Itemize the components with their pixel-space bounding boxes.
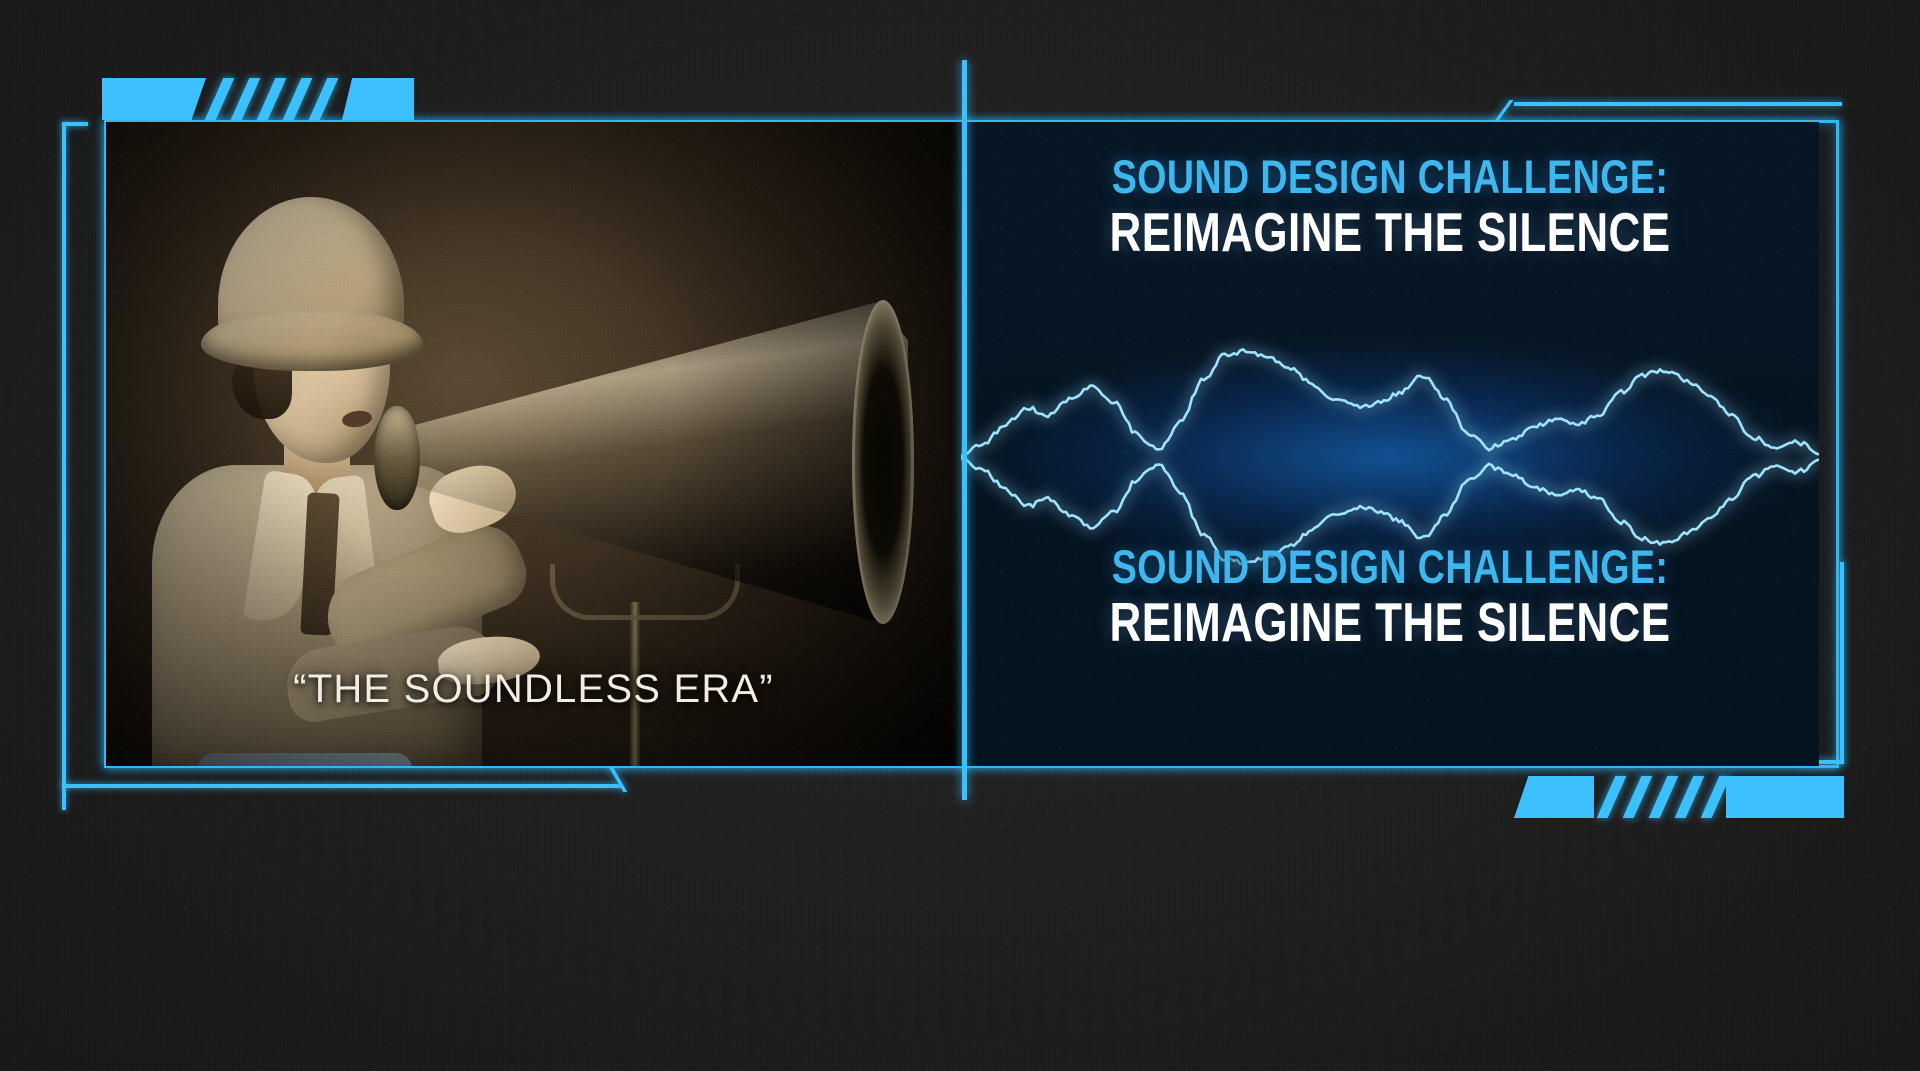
center-divider-line (962, 60, 967, 800)
vintage-photo-panel: “THE SOUNDLESS ERA” (106, 122, 961, 766)
title-top-line2: REIMAGINE THE SILENCE (1047, 204, 1733, 261)
photo-caption: “THE SOUNDLESS ERA” (106, 667, 961, 712)
title-bottom-line2: REIMAGINE THE SILENCE (1047, 594, 1733, 651)
screenshot-root: “THE SOUNDLESS ERA” (0, 0, 1920, 1071)
title-top-line1: SOUND DESIGN CHALLENGE: (1047, 152, 1733, 202)
title-block-top: SOUND DESIGN CHALLENGE: REIMAGINE THE SI… (961, 152, 1819, 261)
hud-hatch-top-left (102, 78, 414, 120)
title-bottom-line1: SOUND DESIGN CHALLENGE: (1047, 542, 1733, 592)
hud-bracket-bottom-left (62, 768, 682, 818)
waveform-panel: SOUND DESIGN CHALLENGE: REIMAGINE THE SI… (961, 122, 1819, 766)
hud-bracket-left (62, 114, 96, 814)
title-block-bottom: SOUND DESIGN CHALLENGE: REIMAGINE THE SI… (961, 542, 1819, 651)
hud-hatch-bottom-right (1514, 776, 1844, 818)
